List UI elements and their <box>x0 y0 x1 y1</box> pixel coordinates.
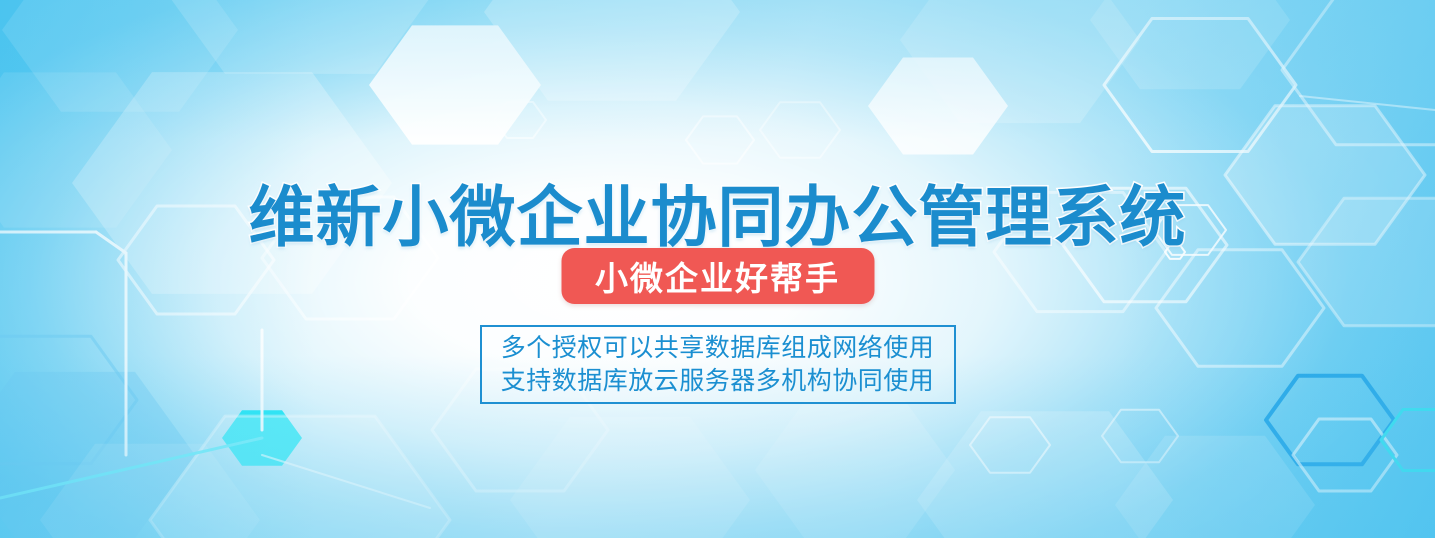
tagline-badge: 小微企业好帮手 <box>561 248 874 304</box>
feature-line-1: 多个授权可以共享数据库组成网络使用 <box>501 332 935 365</box>
promo-banner: 维新小微企业协同办公管理系统 小微企业好帮手 多个授权可以共享数据库组成网络使用… <box>0 0 1435 538</box>
feature-box: 多个授权可以共享数据库组成网络使用 支持数据库放云服务器多机构协同使用 <box>480 325 956 404</box>
banner-content: 维新小微企业协同办公管理系统 小微企业好帮手 多个授权可以共享数据库组成网络使用… <box>0 0 1435 538</box>
page-title: 维新小微企业协同办公管理系统 <box>0 178 1435 256</box>
feature-line-2: 支持数据库放云服务器多机构协同使用 <box>501 365 935 398</box>
